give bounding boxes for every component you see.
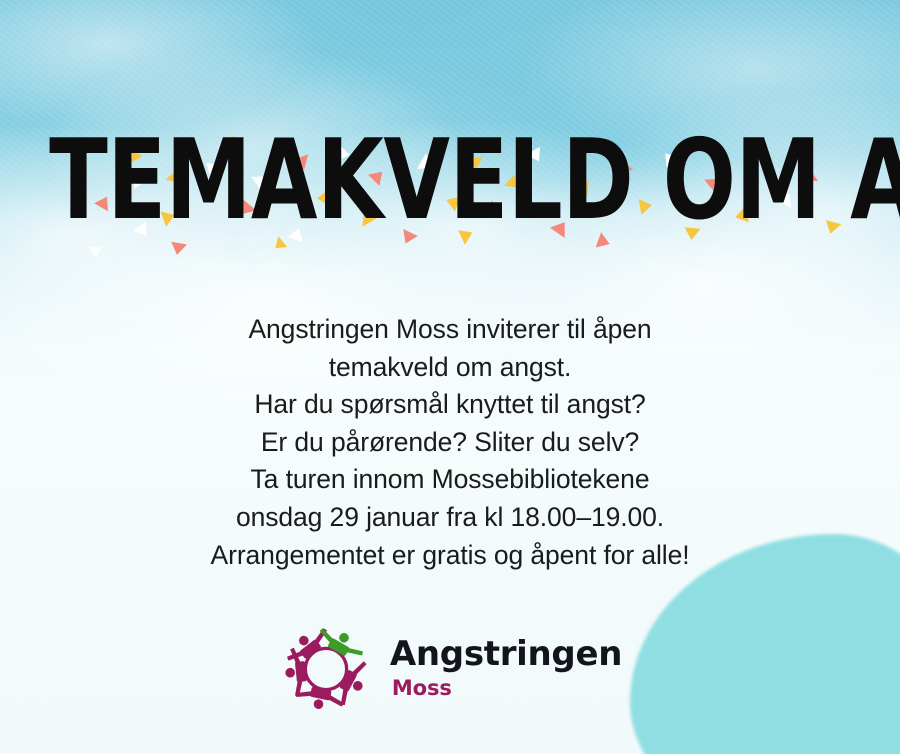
body-line: Er du pårørende? Sliter du selv? xyxy=(0,424,900,462)
body-line: Angstringen Moss inviterer til åpen xyxy=(0,311,900,349)
body-line: onsdag 29 januar fra kl 18.00–19.00. xyxy=(0,499,900,537)
logo-wordmark: Angstringen Moss xyxy=(390,637,622,699)
body-line: Arrangementet er gratis og åpent for all… xyxy=(0,537,900,575)
body-line: Ta turen innom Mossebibliotekene xyxy=(0,461,900,499)
body-line: Har du spørsmål knyttet til angst? xyxy=(0,386,900,424)
body-line: temakveld om angst. xyxy=(0,349,900,387)
logo-name: Angstringen xyxy=(390,637,622,671)
circle-of-people-icon xyxy=(278,618,374,718)
logo-subtitle: Moss xyxy=(392,678,622,699)
poster-canvas: TEMAKVELD OM ANGST Angstringen Moss invi… xyxy=(0,0,900,754)
headline-block: TEMAKVELD OM ANGST xyxy=(0,133,900,229)
poster-title: TEMAKVELD OM ANGST xyxy=(49,130,900,231)
angstringen-logo: Angstringen Moss xyxy=(0,618,900,718)
poster-body-text: Angstringen Moss inviterer til åpentemak… xyxy=(0,311,900,574)
